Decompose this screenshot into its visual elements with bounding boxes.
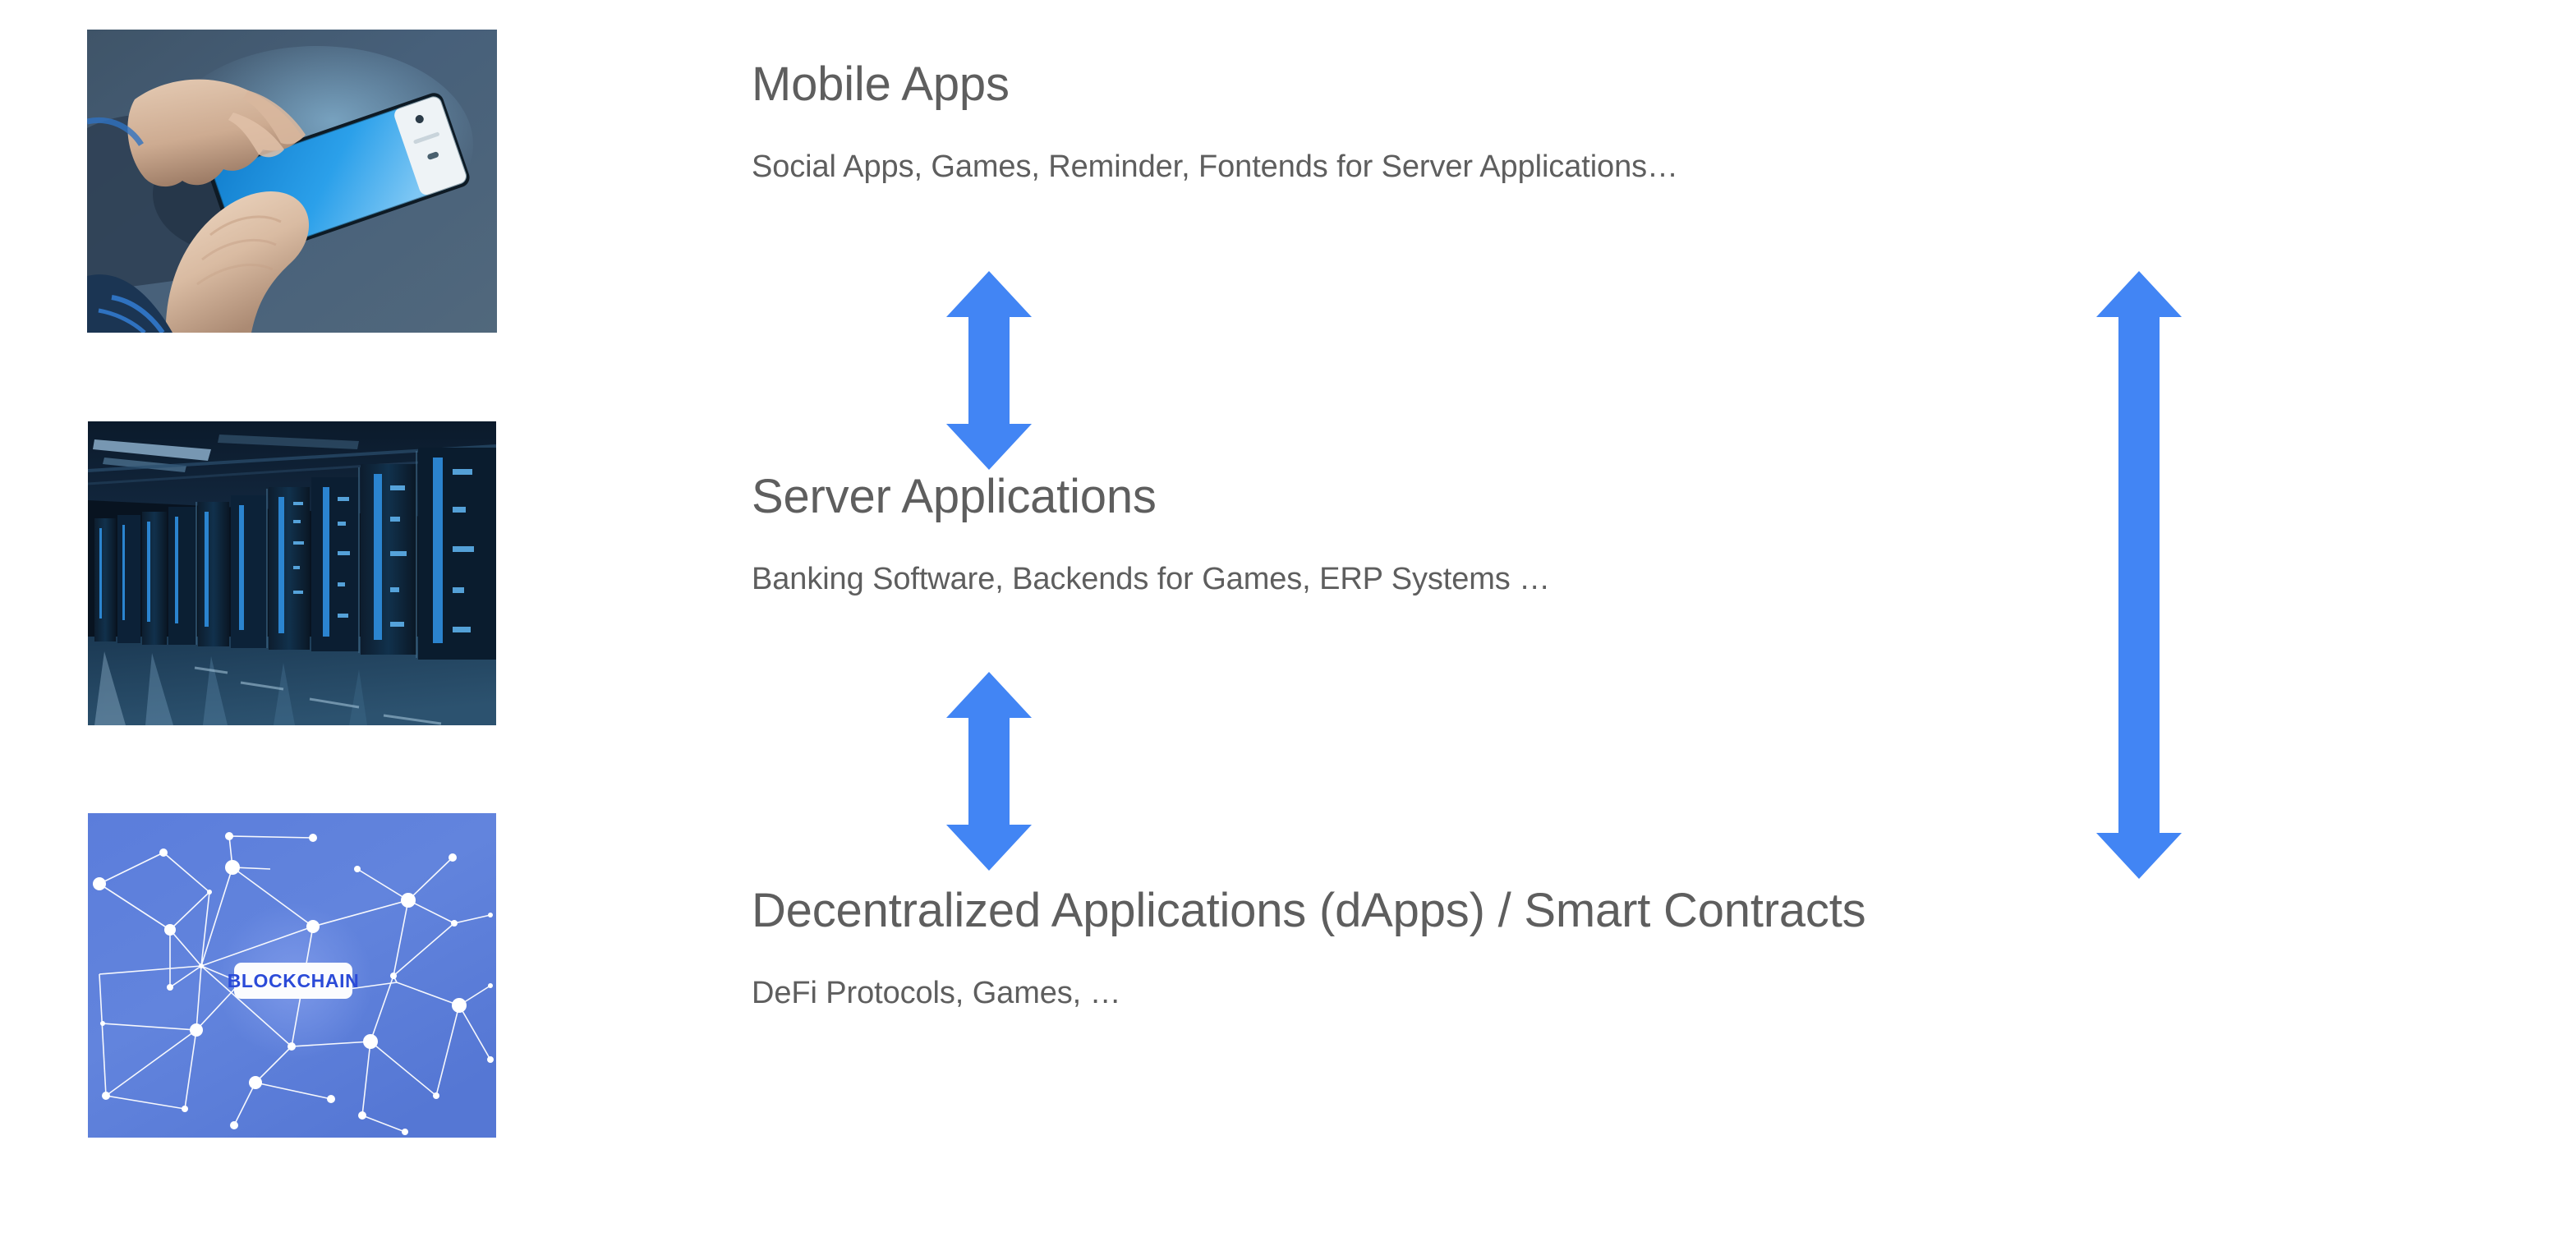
double-vertical-arrow-icon	[946, 271, 1032, 470]
dapps-text-block: Decentralized Applications (dApps) / Sma…	[752, 884, 1865, 1012]
dapps-image: BLOCKCHAIN	[88, 813, 496, 1138]
arrow-server-dapps	[946, 672, 1032, 871]
server-applications-subtitle: Banking Software, Backends for Games, ER…	[752, 561, 1550, 599]
arrow-mobile-dapps	[2096, 271, 2182, 879]
slide-canvas: BLOCKCHAIN Mobile Apps Social Apps, Game…	[0, 0, 2576, 1237]
server-applications-text-block: Server Applications Banking Software, Ba…	[752, 470, 1550, 598]
mobile-apps-subtitle: Social Apps, Games, Reminder, Fontends f…	[752, 149, 1678, 186]
dapps-subtitle: DeFi Protocols, Games, …	[752, 975, 1865, 1013]
mobile-apps-text-block: Mobile Apps Social Apps, Games, Reminder…	[752, 57, 1678, 186]
server-applications-image	[88, 421, 496, 725]
blockchain-badge: BLOCKCHAIN	[228, 963, 360, 999]
mobile-apps-image	[87, 30, 497, 333]
blockchain-network-graphic: BLOCKCHAIN	[88, 813, 496, 1138]
server-applications-title: Server Applications	[752, 470, 1550, 525]
data-center-server-racks-photo	[88, 421, 496, 725]
hands-holding-smartphone-photo	[87, 30, 497, 333]
double-vertical-arrow-icon	[946, 672, 1032, 871]
blockchain-badge-label: BLOCKCHAIN	[228, 970, 360, 991]
double-vertical-arrow-icon	[2096, 271, 2182, 879]
arrow-mobile-server	[946, 271, 1032, 470]
mobile-apps-title: Mobile Apps	[752, 57, 1678, 113]
dapps-title: Decentralized Applications (dApps) / Sma…	[752, 884, 1865, 939]
